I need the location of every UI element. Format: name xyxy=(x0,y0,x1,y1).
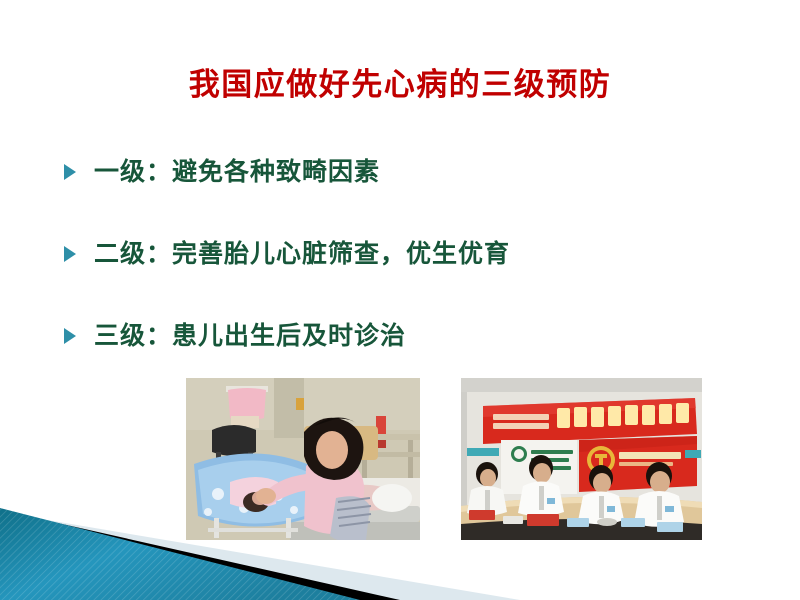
bullet-list: 一级：避免各种致畸因素 二级：完善胎儿心脏筛查，优生优育 三级：患儿出生后及时诊… xyxy=(62,152,762,398)
photo-baby xyxy=(186,378,420,540)
photo-baby-artwork xyxy=(186,378,420,540)
photo-clinic xyxy=(461,378,702,540)
list-item[interactable]: 二级：完善胎儿心脏筛查，优生优育 xyxy=(62,234,762,274)
list-item-label: 二级：完善胎儿心脏筛查，优生优育 xyxy=(94,240,510,269)
list-item-label: 一级：避免各种致畸因素 xyxy=(94,158,380,187)
triangle-right-icon xyxy=(62,327,78,345)
list-item[interactable]: 一级：避免各种致畸因素 xyxy=(62,152,762,192)
list-item[interactable]: 三级：患儿出生后及时诊治 xyxy=(62,316,762,356)
slide-canvas: 我国应做好先心病的三级预防 一级：避免各种致畸因素 二级：完善胎儿心脏筛查，优生… xyxy=(0,0,800,600)
triangle-right-icon xyxy=(62,245,78,263)
page-title: 我国应做好先心病的三级预防 xyxy=(0,68,800,102)
photo-clinic-artwork xyxy=(461,378,702,540)
list-item-label: 三级：患儿出生后及时诊治 xyxy=(94,322,406,351)
triangle-right-icon xyxy=(62,163,78,181)
